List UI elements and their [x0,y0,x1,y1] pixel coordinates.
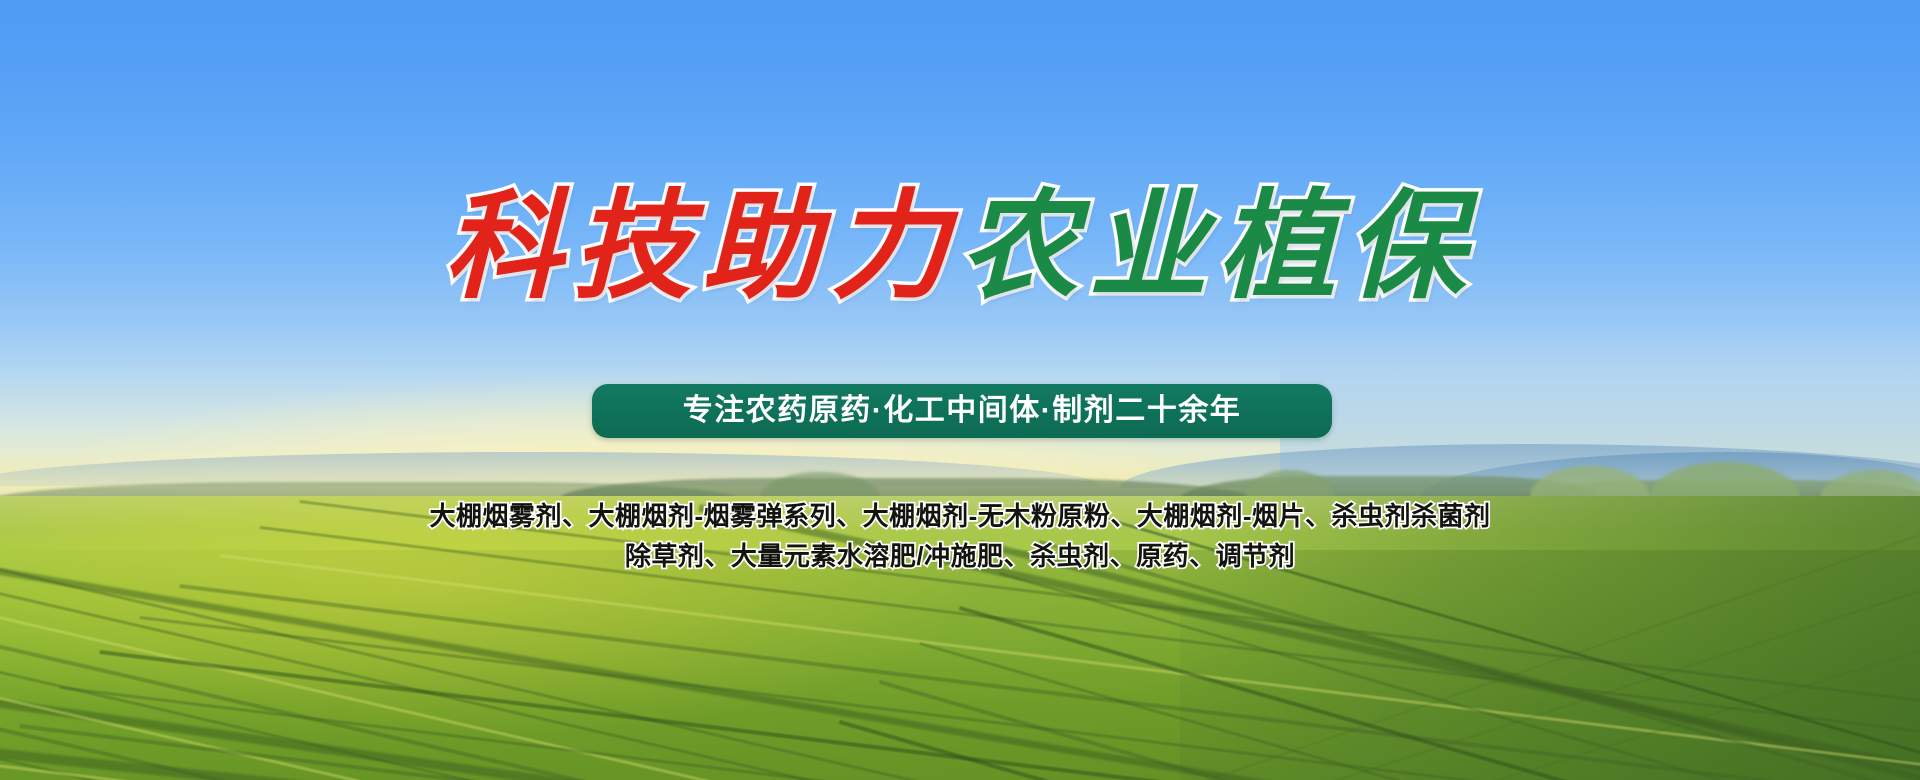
tagline-banner: 专注农药原药·化工中间体·制剂二十余年 [592,384,1332,438]
field-background [0,496,1920,780]
hero-banner: 科技助力农业植保 专注农药原药·化工中间体·制剂二十余年 大棚烟雾剂、大棚烟剂-… [0,0,1920,780]
tagline-text: 专注农药原药·化工中间体·制剂二十余年 [683,396,1241,426]
